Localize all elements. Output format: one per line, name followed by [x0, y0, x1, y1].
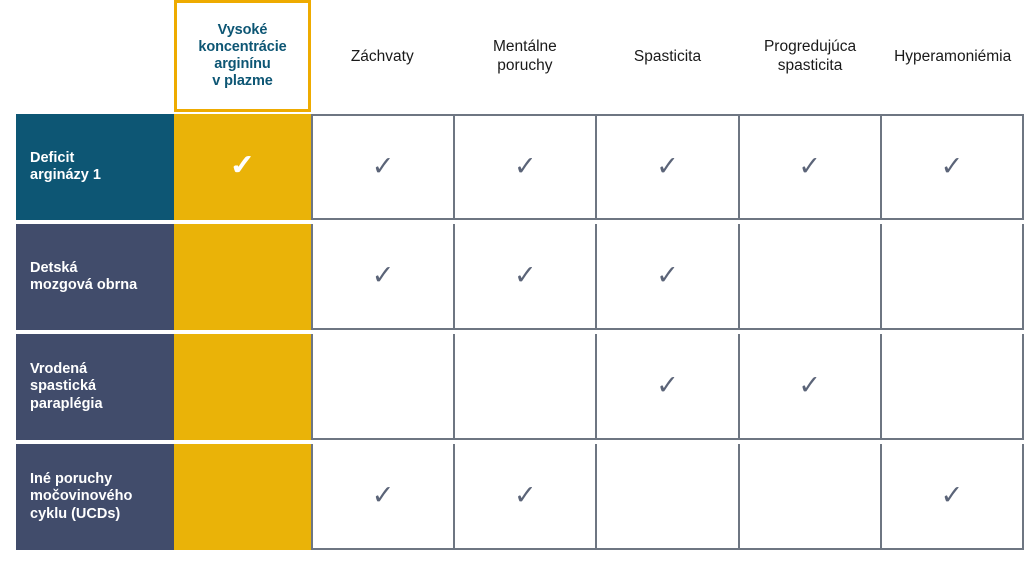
- row-label-text: Vrodenáspastickáparaplégia: [30, 361, 174, 414]
- cell-seizures: ✓: [311, 224, 455, 330]
- column-header-seizures: Záchvaty: [311, 0, 454, 112]
- column-header-label: Spasticita: [634, 47, 701, 66]
- check-icon: ✓: [656, 372, 679, 399]
- table-body: Deficitarginázy 1 ✓ ✓ ✓ ✓ ✓ ✓ Detsk: [0, 112, 1024, 552]
- cell-mental-disorders: ✓: [455, 334, 597, 440]
- cell-spasticity: ✓: [597, 224, 739, 330]
- row-label-arginase-1-deficiency: Deficitarginázy 1: [16, 114, 174, 220]
- cell-seizures: ✓: [311, 444, 455, 550]
- row-label-text: Detskámozgová obrna: [30, 260, 174, 295]
- column-header-hyperammonemia: Hyperamoniémia: [881, 0, 1024, 112]
- cell-progressive-spasticity: ✓: [740, 114, 882, 220]
- cell-progressive-spasticity: ✓: [740, 224, 882, 330]
- cell-hyperammonemia: ✓: [882, 224, 1024, 330]
- table-header-row: Vysokékoncentráciearginínuv plazme Záchv…: [0, 0, 1024, 112]
- check-icon: ✓: [941, 153, 964, 180]
- column-header-progressive-spasticity: Progredujúcaspasticita: [739, 0, 882, 112]
- table-row: Vrodenáspastickáparaplégia ✓ ✓ ✓ ✓ ✓ ✓: [0, 334, 1024, 440]
- cell-mental-disorders: ✓: [455, 114, 597, 220]
- check-icon: ✓: [798, 372, 821, 399]
- cell-high-plasma-arginine: ✓: [174, 224, 311, 330]
- column-header-label: Hyperamoniémia: [894, 47, 1011, 66]
- row-label-hereditary-spastic-paraplegia: Vrodenáspastickáparaplégia: [16, 334, 174, 440]
- cell-high-plasma-arginine: ✓: [174, 334, 311, 440]
- cell-progressive-spasticity: ✓: [740, 444, 882, 550]
- column-header-high-plasma-arginine: Vysokékoncentráciearginínuv plazme: [174, 0, 311, 112]
- check-icon: ✓: [514, 482, 537, 509]
- check-icon: ✓: [372, 153, 395, 180]
- cell-high-plasma-arginine: ✓: [174, 114, 311, 220]
- table-row: Deficitarginázy 1 ✓ ✓ ✓ ✓ ✓ ✓: [0, 114, 1024, 220]
- check-icon: ✓: [514, 153, 537, 180]
- cell-seizures: ✓: [311, 114, 455, 220]
- check-icon: ✓: [230, 151, 255, 181]
- cell-mental-disorders: ✓: [455, 444, 597, 550]
- cell-spasticity: ✓: [597, 444, 739, 550]
- cell-high-plasma-arginine: ✓: [174, 444, 311, 550]
- row-label-text: Iné poruchymočovinovéhocyklu (UCDs): [30, 471, 174, 524]
- cell-hyperammonemia: ✓: [882, 444, 1024, 550]
- cell-mental-disorders: ✓: [455, 224, 597, 330]
- column-header-mental-disorders: Mentálneporuchy: [454, 0, 597, 112]
- check-icon: ✓: [656, 153, 679, 180]
- cell-seizures: ✓: [311, 334, 455, 440]
- cell-progressive-spasticity: ✓: [740, 334, 882, 440]
- check-icon: ✓: [372, 262, 395, 289]
- row-label-text: Deficitarginázy 1: [30, 150, 174, 185]
- cell-spasticity: ✓: [597, 334, 739, 440]
- column-header-label: Vysokékoncentráciearginínuv plazme: [198, 22, 286, 90]
- row-label-other-urea-cycle-disorders: Iné poruchymočovinovéhocyklu (UCDs): [16, 444, 174, 550]
- cell-hyperammonemia: ✓: [882, 334, 1024, 440]
- check-icon: ✓: [514, 262, 537, 289]
- comparison-matrix: Vysokékoncentráciearginínuv plazme Záchv…: [0, 0, 1024, 564]
- column-header-label: Progredujúcaspasticita: [764, 37, 856, 75]
- row-label-cerebral-palsy: Detskámozgová obrna: [16, 224, 174, 330]
- check-icon: ✓: [656, 262, 679, 289]
- header-corner-spacer: [0, 0, 174, 112]
- table-row: Iné poruchymočovinovéhocyklu (UCDs) ✓ ✓ …: [0, 444, 1024, 550]
- check-icon: ✓: [941, 482, 964, 509]
- column-header-label: Záchvaty: [351, 47, 414, 66]
- cell-spasticity: ✓: [597, 114, 739, 220]
- table-row: Detskámozgová obrna ✓ ✓ ✓ ✓ ✓ ✓: [0, 224, 1024, 330]
- cell-hyperammonemia: ✓: [882, 114, 1024, 220]
- check-icon: ✓: [798, 153, 821, 180]
- column-header-spasticity: Spasticita: [596, 0, 739, 112]
- check-icon: ✓: [372, 482, 395, 509]
- column-header-label: Mentálneporuchy: [493, 37, 557, 75]
